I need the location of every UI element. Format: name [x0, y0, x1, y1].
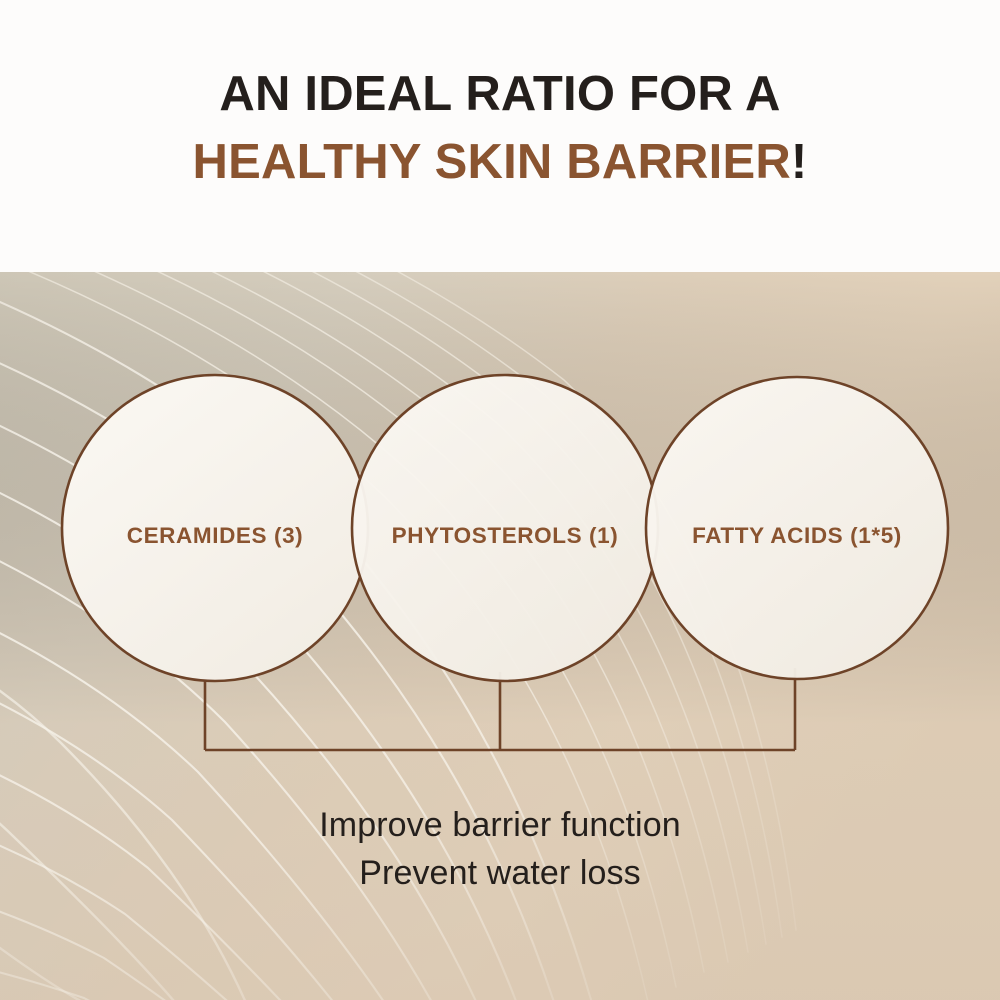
circle-label-fatty-acids: FATTY ACIDS (1*5)	[692, 523, 902, 549]
circle-label-phytosterols: PHYTOSTEROLS (1)	[392, 523, 619, 549]
venn-diagram	[0, 0, 1000, 1000]
benefit-text-1: Improve barrier function	[0, 806, 1000, 845]
circle-label-ceramides: CERAMIDES (3)	[127, 523, 304, 549]
benefit-text-2: Prevent water loss	[0, 854, 1000, 893]
infographic-canvas: AN IDEAL RATIO FOR A HEALTHY SKIN BARRIE…	[0, 0, 1000, 1000]
